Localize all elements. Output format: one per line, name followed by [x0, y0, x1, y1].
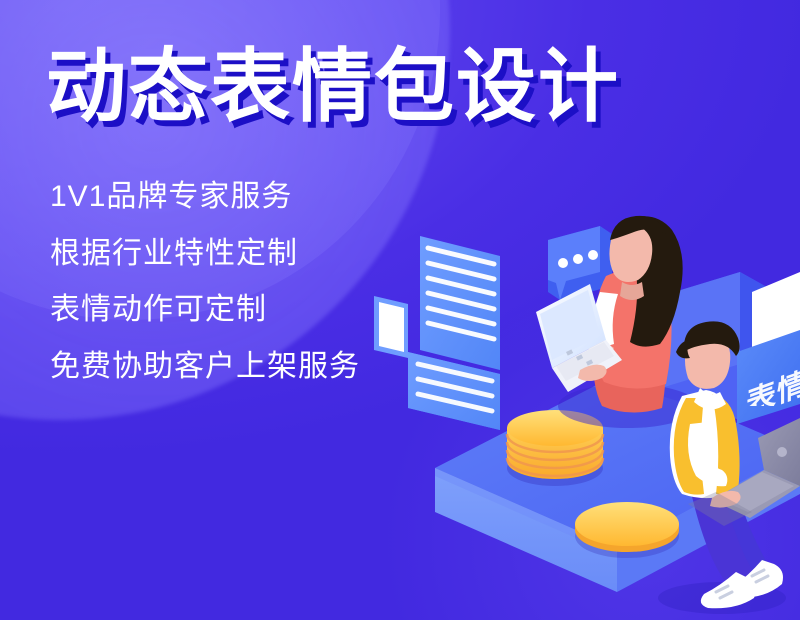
- feature-list-item: 免费协助客户上架服务: [50, 350, 480, 385]
- single-coin: [575, 502, 679, 558]
- feature-list: 1V1品牌专家服务 根据行业特性定制 表情动作可定制 免费协助客户上架服务: [50, 180, 480, 406]
- feature-list-item: 根据行业特性定制: [50, 237, 480, 272]
- page-title: 动态表情包设计: [46, 44, 620, 130]
- feature-list-item: 表情动作可定制: [50, 293, 480, 328]
- emoji-sign-label: 表情: [742, 358, 800, 406]
- feature-list-item: 1V1品牌专家服务: [50, 180, 480, 215]
- promo-banner: 动态表情包设计 1V1品牌专家服务 根据行业特性定制 表情动作可定制 免费协助客…: [0, 0, 800, 620]
